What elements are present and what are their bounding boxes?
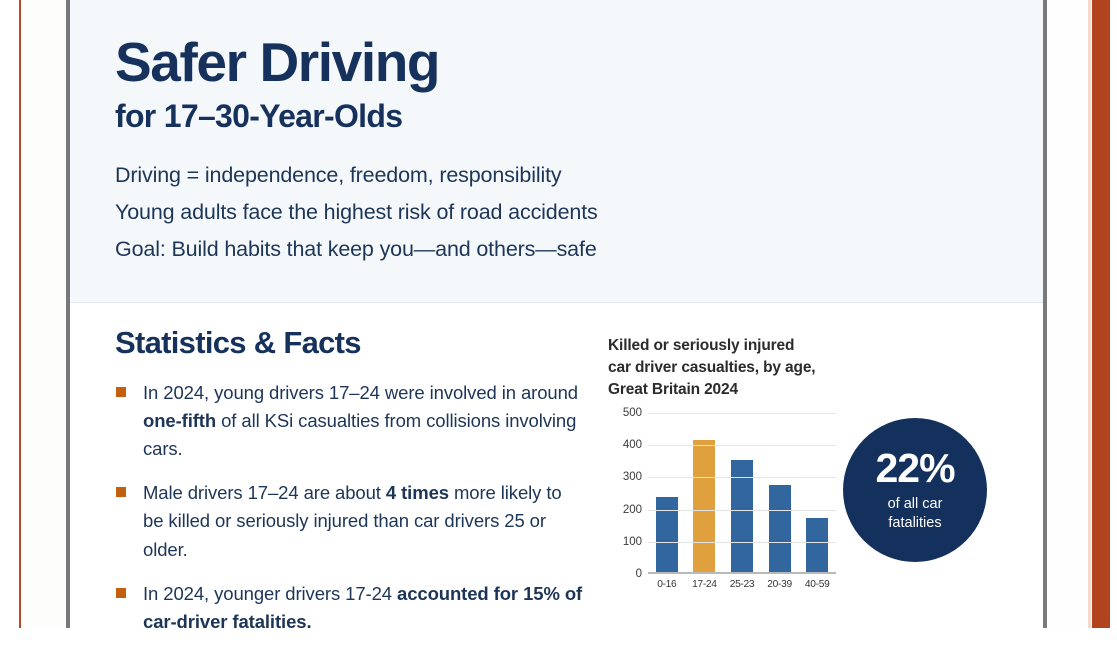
right-accent-stripe — [1092, 0, 1110, 628]
bar-chart: 5004003002001000 0-1617-2425-2320-3940-5… — [608, 413, 840, 618]
card-border-right — [1043, 0, 1047, 628]
chart-bar — [806, 518, 828, 574]
list-item: In 2024, younger drivers 17-24 accounted… — [115, 580, 585, 636]
lede-line-1: Driving = independence, freedom, respons… — [115, 157, 1043, 194]
statistics-bullet-list: In 2024, young drivers 17–24 were involv… — [115, 379, 585, 636]
chart-title-line-1: Killed or seriously injured — [608, 335, 858, 357]
page-gutter-right — [1048, 0, 1089, 628]
slide-body: Statistics & Facts In 2024, young driver… — [70, 303, 1043, 628]
statistics-heading: Statistics & Facts — [115, 325, 585, 361]
right-accent-hairline — [1088, 0, 1091, 628]
chart-y-tick-label: 100 — [608, 536, 642, 548]
list-item: Male drivers 17–24 are about 4 times mor… — [115, 479, 585, 563]
left-accent-stripe — [19, 0, 21, 628]
badge-caption-line-2: fatalities — [888, 514, 943, 533]
slide-header: Safer Driving for 17–30-Year-Olds Drivin… — [70, 0, 1043, 303]
list-item: In 2024, young drivers 17–24 were involv… — [115, 379, 585, 463]
chart-bar — [769, 485, 791, 574]
chart-column: Killed or seriously injured car driver c… — [608, 335, 858, 618]
chart-x-tick-label: 25-23 — [725, 579, 759, 590]
page-gutter-left — [21, 0, 67, 628]
chart-title-line-2: car driver casualties, by age, — [608, 357, 858, 379]
chart-bars — [648, 413, 836, 574]
bullet-square-icon — [116, 588, 126, 598]
chart-gridline — [648, 510, 836, 511]
chart-x-axis: 0-1617-2425-2320-3940-59 — [648, 579, 836, 590]
chart-y-axis: 5004003002001000 — [608, 413, 642, 583]
list-item-text: In 2024, young drivers 17–24 were involv… — [143, 382, 578, 459]
chart-bar — [656, 497, 678, 574]
lede-line-3: Goal: Build habits that keep you—and oth… — [115, 231, 1043, 268]
badge-value: 22% — [875, 448, 954, 489]
chart-x-tick-label: 0-16 — [650, 579, 684, 590]
chart-y-tick-label: 300 — [608, 471, 642, 483]
list-item-text: Male drivers 17–24 are about 4 times mor… — [143, 482, 562, 559]
bullet-square-icon — [116, 387, 126, 397]
status-badge: 22% of all car fatalities — [843, 418, 987, 562]
chart-x-tick-label: 40-59 — [800, 579, 834, 590]
badge-caption: of all car fatalities — [888, 495, 943, 533]
chart-gridline — [648, 445, 836, 446]
chart-x-tick-label: 17-24 — [687, 579, 721, 590]
chart-gridline — [648, 477, 836, 478]
chart-title-line-3: Great Britain 2024 — [608, 379, 858, 401]
chart-y-tick-label: 400 — [608, 439, 642, 451]
chart-title: Killed or seriously injured car driver c… — [608, 335, 858, 401]
slide-card: Safer Driving for 17–30-Year-Olds Drivin… — [70, 0, 1043, 628]
chart-y-tick-label: 200 — [608, 504, 642, 516]
bullet-square-icon — [116, 487, 126, 497]
badge-caption-line-1: of all car — [888, 495, 943, 514]
chart-bar — [693, 440, 715, 574]
chart-gridline — [648, 542, 836, 543]
lede-line-2: Young adults face the highest risk of ro… — [115, 194, 1043, 231]
chart-plot-area — [648, 413, 836, 574]
page-subtitle: for 17–30-Year-Olds — [115, 99, 1043, 135]
list-item-text: In 2024, younger drivers 17-24 accounted… — [143, 583, 582, 632]
chart-y-tick-label: 0 — [608, 568, 642, 580]
lede-block: Driving = independence, freedom, respons… — [115, 157, 1043, 268]
chart-gridline — [648, 413, 836, 414]
page-title: Safer Driving — [115, 34, 1043, 91]
chart-baseline — [648, 572, 836, 574]
statistics-column: Statistics & Facts In 2024, young driver… — [115, 325, 585, 652]
chart-x-tick-label: 20-39 — [763, 579, 797, 590]
chart-y-tick-label: 500 — [608, 407, 642, 419]
